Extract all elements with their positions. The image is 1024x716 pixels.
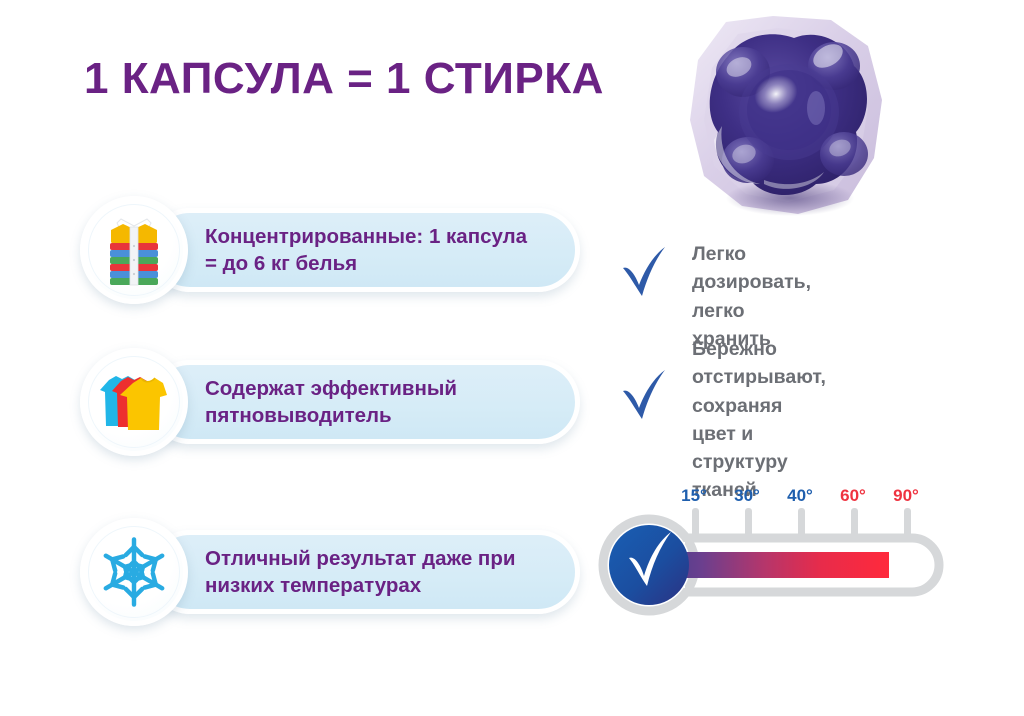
check-icon — [620, 367, 670, 423]
colored-tshirts-icon — [80, 348, 188, 456]
stacked-shirts-icon — [80, 196, 188, 304]
feature-card-stain-remover[interactable]: Содержат эффективный пятновыводитель — [80, 348, 580, 456]
detergent-capsule-image — [668, 8, 898, 233]
feature-card-concentrated[interactable]: Концентрированные: 1 капсула = до 6 кг б… — [80, 196, 580, 304]
temp-label: 15° — [672, 486, 716, 506]
infographic-canvas: 1 КАПСУЛА = 1 СТИРКА — [0, 0, 1024, 716]
feature-card-low-temperature[interactable]: Отличный результат даже при низких темпе… — [80, 518, 580, 626]
temp-label: 60° — [831, 486, 875, 506]
feature-card-label: Отличный результат даже при низких темпе… — [205, 545, 535, 599]
temp-label: 90° — [884, 486, 928, 506]
feature-card-label: Содержат эффективный пятновыводитель — [205, 375, 535, 429]
benefit-label: Бережно отстирывают, сохраняя цвет и стр… — [692, 335, 826, 505]
check-icon — [620, 244, 670, 300]
temp-label: 30° — [725, 486, 769, 506]
page-title: 1 КАПСУЛА = 1 СТИРКА — [84, 54, 604, 104]
feature-card-label: Концентрированные: 1 капсула = до 6 кг б… — [205, 223, 535, 277]
temp-label: 40° — [778, 486, 822, 506]
snowflake-icon — [80, 518, 188, 626]
thermometer-icon: 15° 30° 40° 60° 90° — [596, 486, 946, 636]
